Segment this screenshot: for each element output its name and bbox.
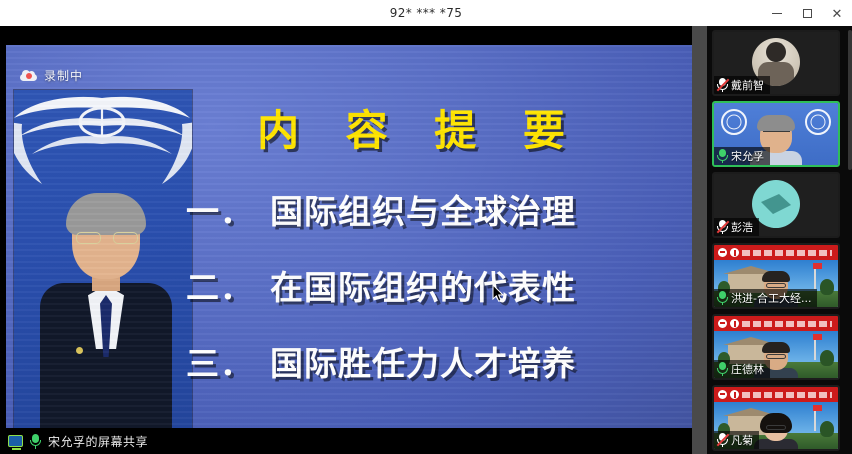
close-icon: ✕ [832,7,843,20]
participant-name-5: 庄德林 [731,361,764,377]
shared-slide[interactable]: 录制中 [6,45,692,445]
participant-name-6: 凡菊 [731,432,753,448]
virtual-background-banner [714,245,838,260]
participant-label-6: 凡菊 [714,431,759,449]
participant-tiles[interactable]: 戴前智 宋允孚 [707,26,852,454]
share-status-text: 宋允孚的屏幕共享 [48,433,148,450]
participant-name-2: 宋允孚 [731,148,764,164]
recording-indicator: 录制中 [20,67,83,84]
minimize-button[interactable] [762,0,792,26]
slide-line-1-number: 一． [186,192,254,231]
slide-line-2: 二．在国际组织的代表性 [186,261,666,309]
presenter-figure [40,199,172,435]
participant-tile-3[interactable]: 彭浩 [712,172,840,238]
mouse-cursor-icon [492,284,505,303]
slide-title: 内 容 提 要 [6,97,692,158]
slide-line-3-text: 国际胜任力人才培养 [270,344,576,383]
strip-divider [692,26,707,454]
participant-tile-2[interactable]: 宋允孚 [712,101,840,167]
virtual-background-banner [714,316,838,331]
minimize-icon [772,13,782,14]
microphone-on-icon [30,434,41,449]
participant-name-4: 洪进-合工大经... [731,290,811,306]
participant-tile-6[interactable]: 凡菊 [712,385,840,451]
who-logo-icon [805,109,831,135]
slide-line-2-number: 二． [186,268,254,307]
slide-line-3-number: 三． [186,344,254,383]
participant-tile-4[interactable]: 洪进-合工大经... [712,243,840,309]
un-logo-icon [721,109,747,135]
participant-tile-1[interactable]: 戴前智 [712,30,840,96]
maximize-icon [803,9,812,18]
participant-label-1: 戴前智 [714,76,770,94]
microphone-muted-icon [717,220,728,234]
participant-name-3: 彭浩 [731,219,753,235]
slide-line-3: 三．国际胜任力人才培养 [186,337,666,385]
window-title: 92* *** *75 [390,6,463,20]
close-button[interactable]: ✕ [822,0,852,26]
slide-line-1-text: 国际组织与全球治理 [270,192,576,231]
share-status-bar: 宋允孚的屏幕共享 [0,428,692,454]
scrollbar-thumb[interactable] [848,30,852,170]
maximize-button[interactable] [792,0,822,26]
microphone-muted-icon [717,433,728,447]
participant-label-4: 洪进-合工大经... [714,289,817,307]
slide-body: 一．国际组织与全球治理 二．在国际组织的代表性 三．国际胜任力人才培养 [186,185,666,413]
participant-label-2: 宋允孚 [714,147,770,165]
participant-face [754,415,798,449]
shared-screen-stage: 录制中 [0,26,692,454]
participant-scrollbar[interactable] [848,26,852,454]
microphone-muted-icon [717,78,728,92]
cloud-recording-icon [20,70,37,81]
participant-strip: 戴前智 宋允孚 [692,26,852,454]
screen-share-icon [8,435,23,447]
participant-label-3: 彭浩 [714,218,759,236]
participant-tile-5[interactable]: 庄德林 [712,314,840,380]
microphone-on-icon [717,149,728,163]
microphone-on-icon [717,291,728,305]
virtual-background-banner [714,387,838,402]
recording-label: 录制中 [44,67,83,84]
window-controls: ✕ [762,0,852,26]
participant-name-1: 戴前智 [731,77,764,93]
slide-line-1: 一．国际组织与全球治理 [186,185,666,233]
zoom-meeting-window: 92* *** *75 ✕ 录制中 [0,0,852,454]
title-bar: 92* *** *75 ✕ [0,0,852,26]
slide-line-2-text: 在国际组织的代表性 [270,268,576,307]
participant-label-5: 庄德林 [714,360,770,378]
microphone-on-icon [717,362,728,376]
avatar-image [752,180,800,228]
